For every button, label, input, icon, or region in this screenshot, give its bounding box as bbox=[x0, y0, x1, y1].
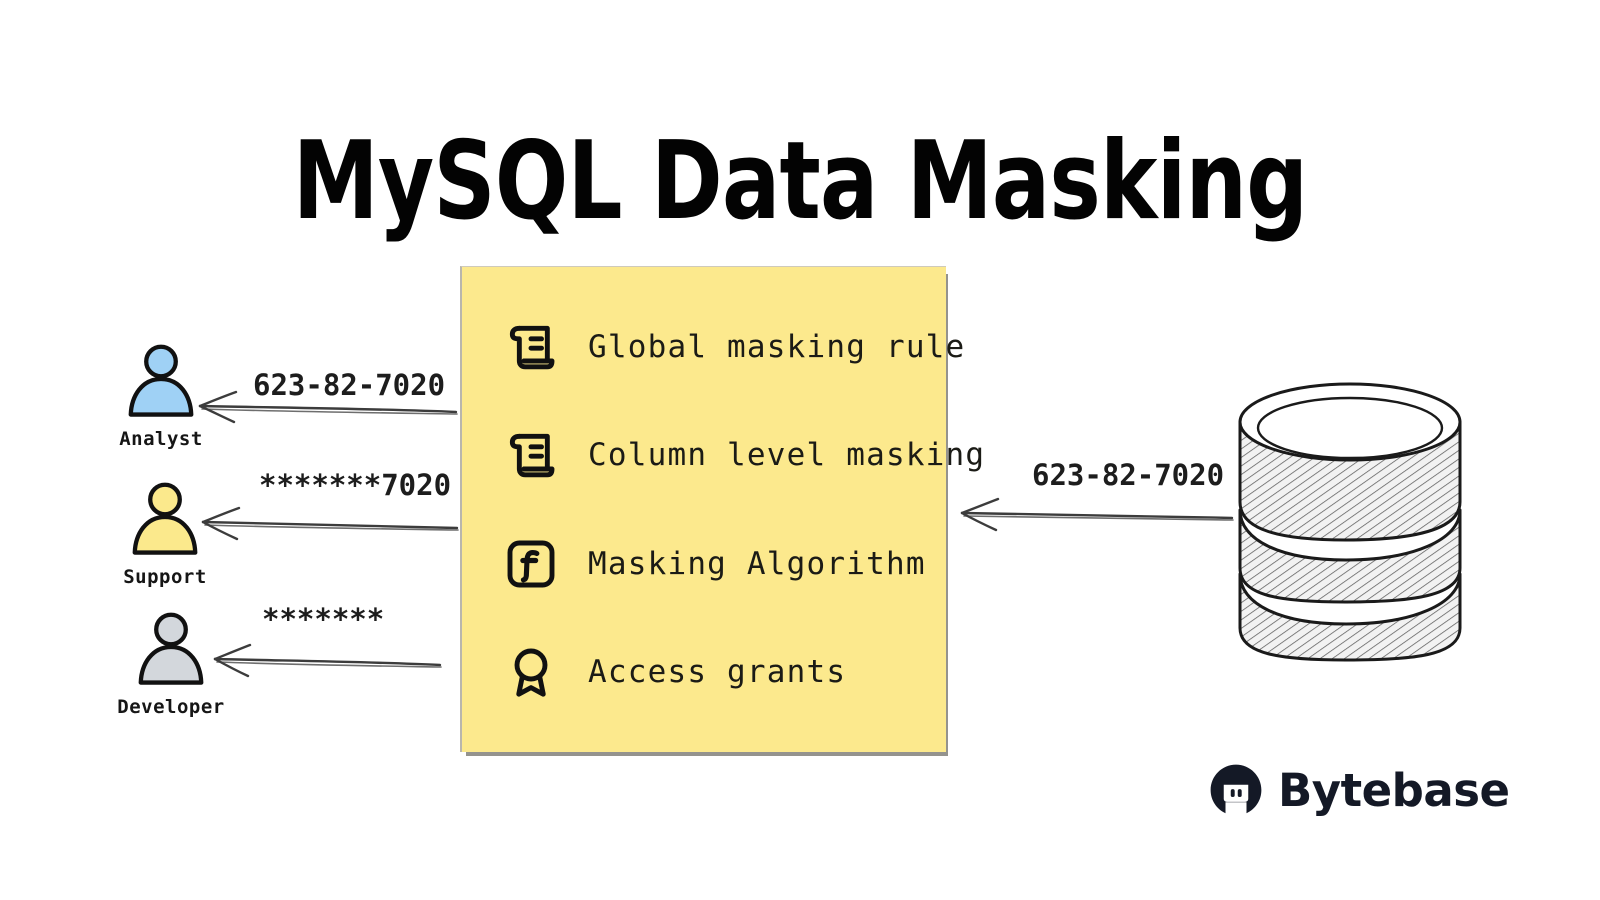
brand: Bytebase bbox=[1208, 762, 1510, 818]
feature-label: Access grants bbox=[588, 654, 846, 690]
actor-label: Analyst bbox=[96, 428, 226, 450]
feature-label: Masking Algorithm bbox=[588, 546, 926, 582]
feature-row: Access grants bbox=[500, 618, 946, 726]
diagram-canvas: MySQL Data Masking Global masking rule bbox=[0, 0, 1600, 900]
person-icon bbox=[118, 340, 204, 426]
database-icon bbox=[1232, 378, 1468, 664]
feature-label: Column level masking bbox=[588, 437, 985, 473]
brand-name: Bytebase bbox=[1278, 768, 1510, 813]
bytebase-logo-icon bbox=[1208, 762, 1264, 818]
masking-features-card: Global masking rule Column level masking bbox=[460, 266, 946, 752]
actor-label: Developer bbox=[106, 696, 236, 718]
flow-value-analyst: 623-82-7020 bbox=[253, 368, 445, 402]
person-icon bbox=[128, 608, 214, 694]
actor-analyst: Analyst bbox=[96, 340, 226, 450]
feature-row: Masking Algorithm bbox=[500, 510, 946, 618]
actor-label: Support bbox=[100, 566, 230, 588]
person-icon bbox=[122, 478, 208, 564]
actor-developer: Developer bbox=[106, 608, 236, 718]
flow-value-developer: ******* bbox=[262, 602, 384, 636]
function-icon bbox=[500, 533, 562, 595]
scroll-icon bbox=[500, 424, 562, 486]
feature-label: Global masking rule bbox=[588, 329, 965, 365]
feature-row: Column level masking bbox=[500, 401, 946, 509]
flow-value-support: *******7020 bbox=[259, 468, 451, 502]
feature-row: Global masking rule bbox=[500, 293, 946, 401]
scroll-icon bbox=[500, 316, 562, 378]
page-title: MySQL Data Masking bbox=[160, 128, 1440, 236]
actor-support: Support bbox=[100, 478, 230, 588]
flow-value-source: 623-82-7020 bbox=[1032, 458, 1224, 492]
award-icon bbox=[500, 641, 562, 703]
